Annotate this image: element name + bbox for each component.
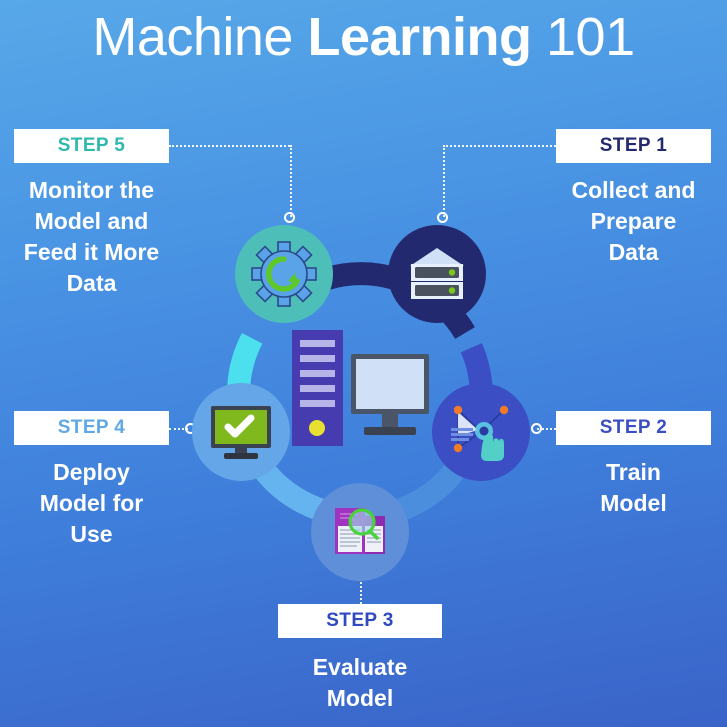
step-chip-3[interactable]: STEP 3: [278, 604, 442, 638]
node-step-4[interactable]: [192, 383, 290, 481]
step-description-5: Monitor the Model and Feed it More Data: [14, 175, 169, 299]
title-part-2: Learning: [307, 7, 531, 67]
step-description-1: Collect and Prepare Data: [556, 175, 711, 268]
title-part-3: 101: [532, 7, 635, 67]
desktop-computer-icon: [290, 328, 433, 448]
page-title: Machine Learning 101: [0, 4, 727, 70]
report-magnifier-icon: [329, 502, 391, 562]
step-description-2: Train Model: [556, 457, 711, 519]
step-chip-5[interactable]: STEP 5: [14, 129, 169, 163]
step-block-3[interactable]: STEP 3 Evaluate Model: [278, 604, 442, 714]
step-chip-1[interactable]: STEP 1: [556, 129, 711, 163]
neural-network-training-icon: [448, 402, 514, 462]
step-chip-label-5: STEP 5: [58, 135, 126, 157]
step-chip-label-1: STEP 1: [600, 135, 668, 157]
step-block-4[interactable]: STEP 4 Deploy Model for Use: [14, 411, 169, 550]
step-description-3: Evaluate Model: [278, 652, 442, 714]
step-chip-label-2: STEP 2: [600, 417, 668, 439]
step-block-5[interactable]: STEP 5 Monitor the Model and Feed it Mor…: [14, 129, 169, 299]
node-step-5[interactable]: [235, 225, 333, 323]
step-block-1[interactable]: STEP 1 Collect and Prepare Data: [556, 129, 711, 268]
node-step-3[interactable]: [311, 483, 409, 581]
node-step-2[interactable]: [432, 383, 530, 481]
step-description-4: Deploy Model for Use: [14, 457, 169, 550]
monitor-checkmark-icon: [208, 404, 274, 460]
gear-refresh-icon: [251, 241, 317, 307]
title-part-1: Machine: [92, 7, 307, 67]
step-chip-2[interactable]: STEP 2: [556, 411, 711, 445]
step-chip-label-3: STEP 3: [326, 610, 394, 632]
step-chip-4[interactable]: STEP 4: [14, 411, 169, 445]
step-block-2[interactable]: STEP 2 Train Model: [556, 411, 711, 519]
process-cycle-diagram: [180, 215, 540, 575]
node-step-1[interactable]: [388, 225, 486, 323]
database-server-icon: [407, 245, 467, 303]
step-chip-label-4: STEP 4: [58, 417, 126, 439]
